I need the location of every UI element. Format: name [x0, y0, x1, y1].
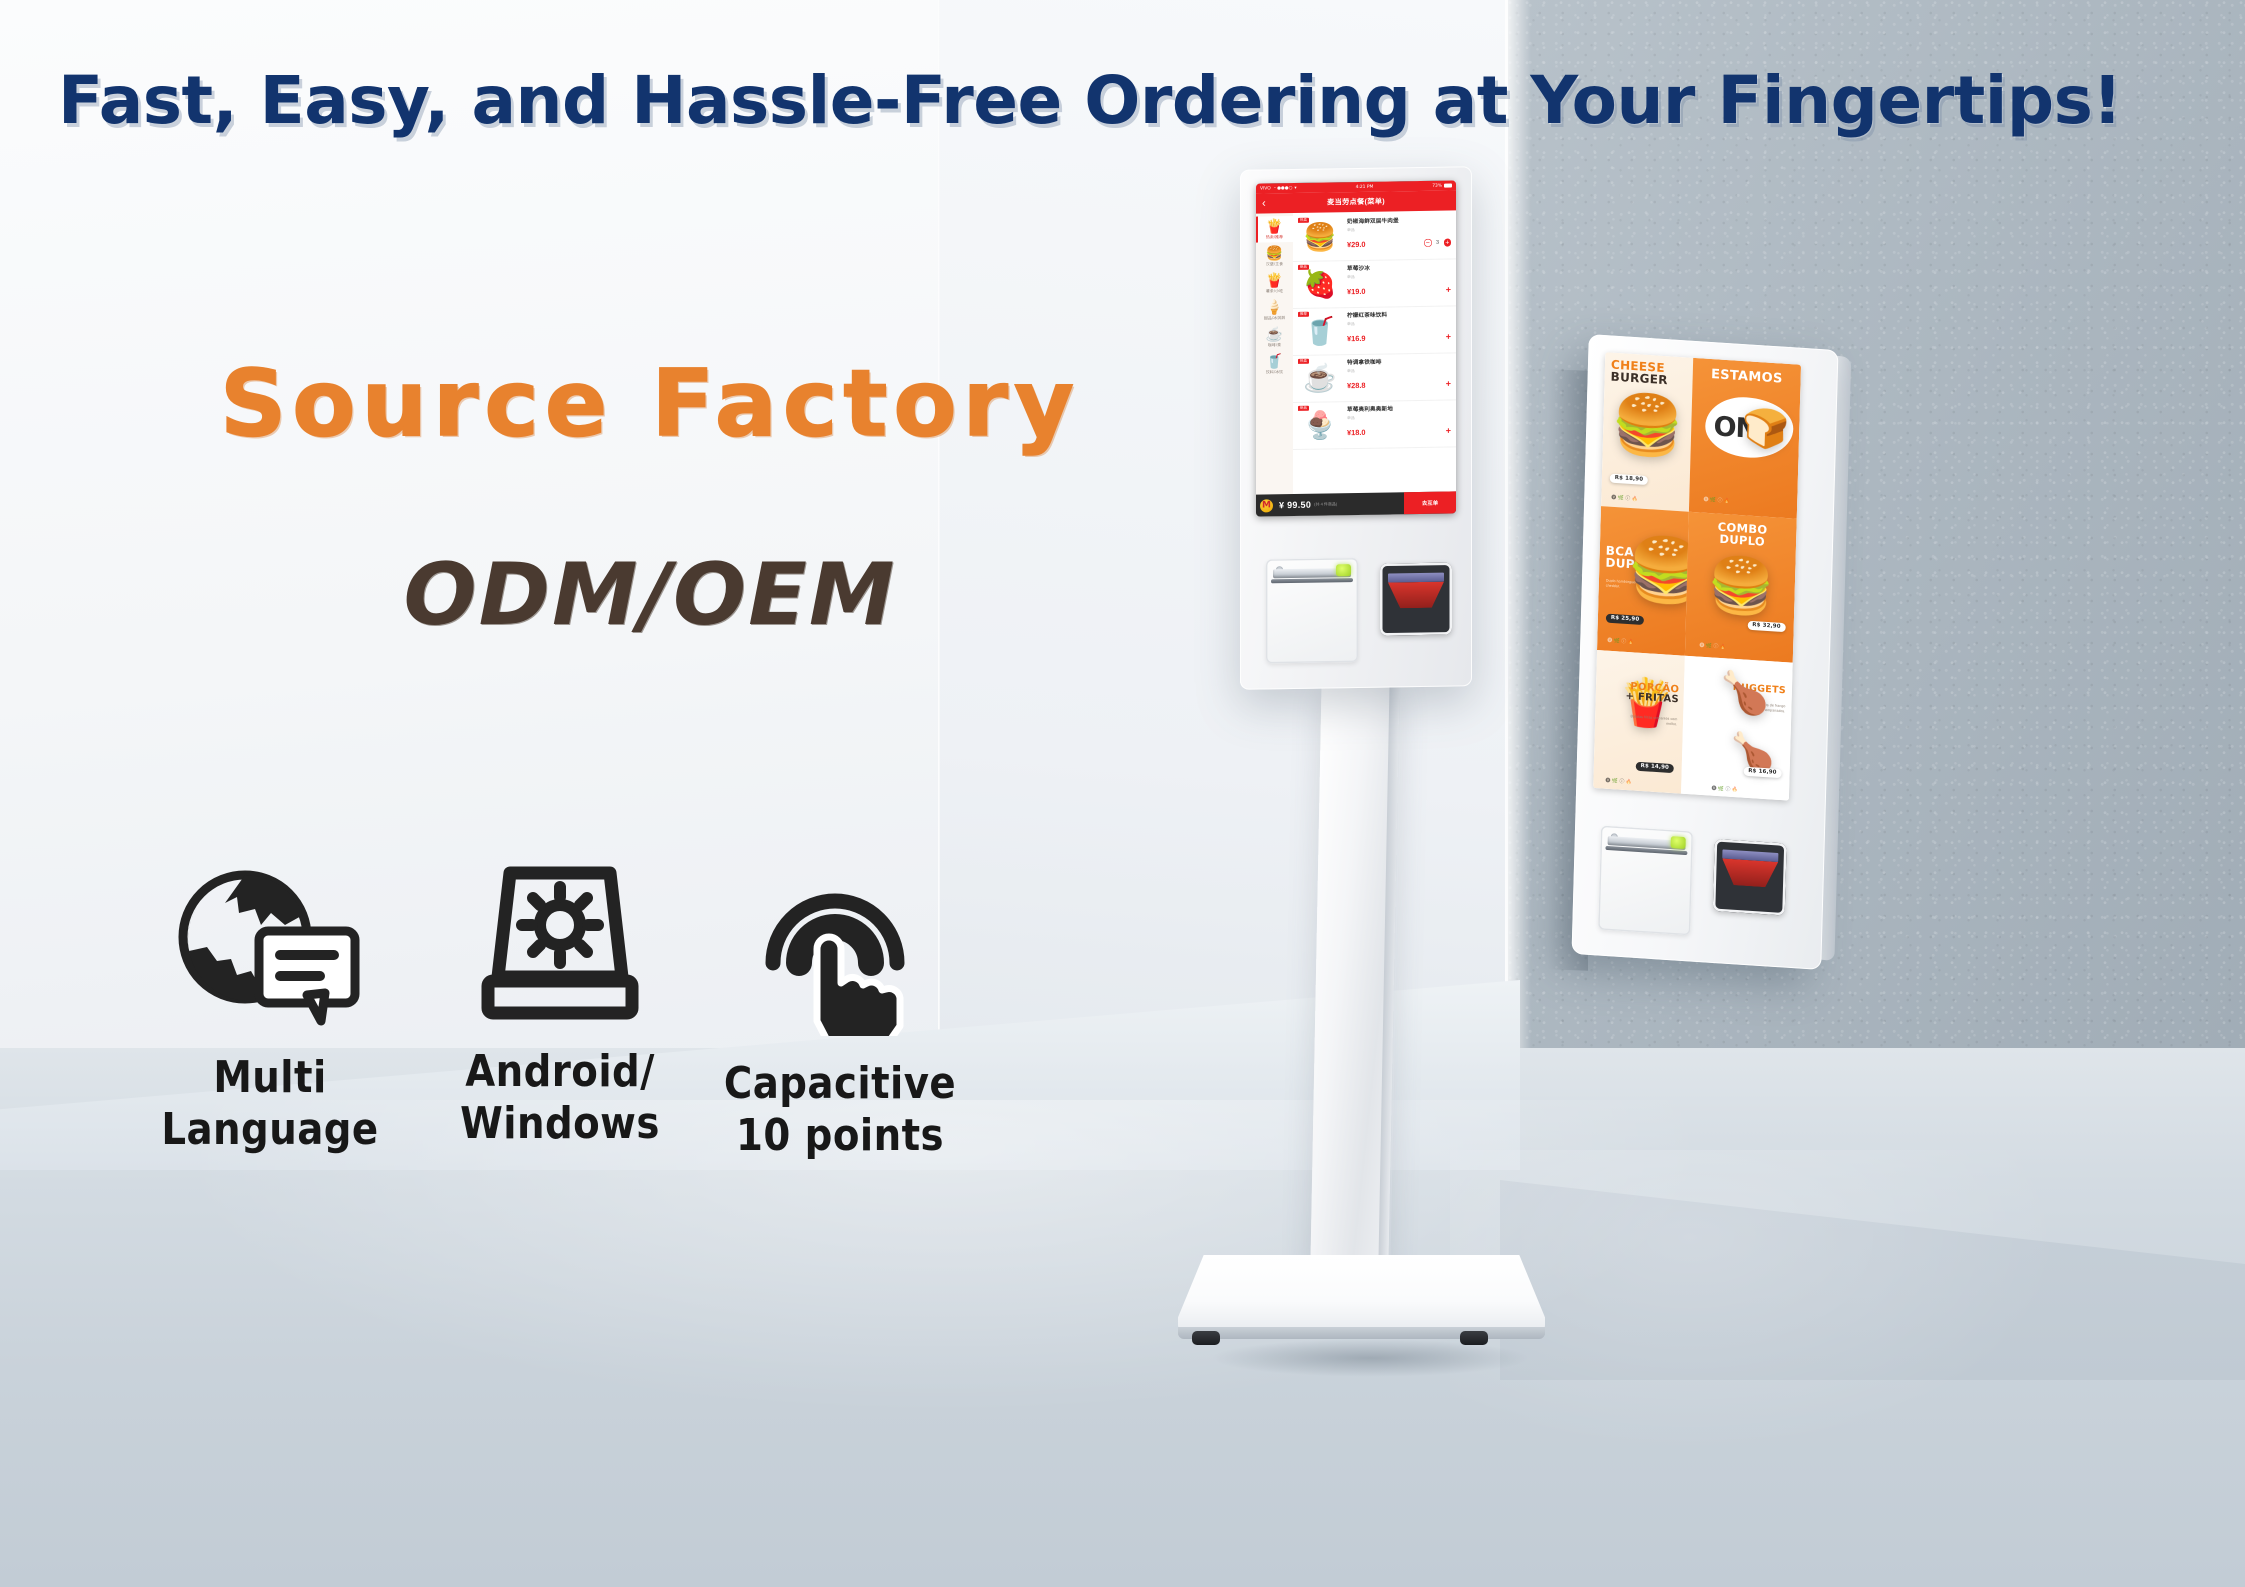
category-sidebar: 🍟 热卖/推荐 🍔 汉堡/主食 🍟 薯条/小吃 [1256, 213, 1293, 495]
coffee-icon: ☕ [1256, 327, 1293, 342]
menu-badges: 🅥 🌿 ⓘ 🔥 [1607, 637, 1634, 646]
item-price: ¥28.8 [1347, 380, 1366, 389]
item-food-image: 🍨 [1303, 412, 1337, 440]
order-total: ¥ 99.50 [1279, 500, 1311, 511]
feature-multi-language: Multi Language [110, 855, 430, 1156]
checkout-button[interactable]: 去互单 [1404, 491, 1456, 514]
item-info: 特调拿铁咖啡 单品 ¥28.8 + [1343, 357, 1451, 399]
menu-badges: 🅥 🌿 ⓘ 🔥 [1699, 641, 1726, 650]
carrier-label: VIVO [1260, 186, 1271, 191]
item-name: 特调拿铁咖啡 [1347, 357, 1451, 367]
item-footer: ¥16.9 + [1347, 332, 1451, 343]
menu-cell-cheese-burger[interactable]: CHEESE BURGER 🍔 R$ 18,90 🅥 🌿 ⓘ 🔥 [1601, 352, 1693, 512]
feature-label-line1: Android/ [419, 1046, 701, 1098]
kiosk-base-edge [1178, 1327, 1545, 1339]
status-time: 4:21 PM [1356, 184, 1374, 189]
feature-label: Multi Language [129, 1052, 411, 1156]
battery-percent: 73% [1432, 183, 1442, 188]
feature-label-line2: 10 points [699, 1110, 981, 1162]
menu-row: 🍟 PORÇÃO + FRITAS Batatas fritas crocant… [1593, 650, 1793, 801]
signal-icon: ・●●●○ [1273, 185, 1293, 191]
item-price: ¥18.0 [1347, 427, 1366, 436]
item-subtitle: 单品 [1347, 413, 1451, 421]
item-footer: ¥18.0 + [1347, 426, 1451, 437]
add-item-button[interactable]: + [1446, 285, 1451, 294]
kiosk-touch-display[interactable]: VIVO ・●●●○ ▾ 4:21 PM 73% ‹ 麦当劳点餐(菜单) [1256, 180, 1456, 516]
menu-cell-title: CHEESE BURGER [1610, 359, 1687, 389]
menu-list-item[interactable]: 新品 🍨 草莓奥利奥奥新地 单品 ¥18.0 + [1293, 400, 1456, 450]
menu-row: BCA DUPLO Duplo hambúrguer com queijo ch… [1597, 506, 1797, 663]
green-status-led [1336, 564, 1351, 576]
burger-icon: 🍔 [1256, 246, 1293, 261]
add-item-button[interactable]: + [1446, 379, 1451, 388]
menu-price: R$ 14,90 [1636, 761, 1675, 773]
item-thumbnail: 热卖 ☕ [1297, 358, 1343, 399]
menu-cell-nuggets[interactable]: NUGGETS Nuggets de frango empanados. 🍗 🍗… [1681, 656, 1792, 801]
receipt-printer[interactable] [1266, 558, 1358, 663]
screen-brightness-icon [400, 849, 720, 1024]
sidebar-item-desserts[interactable]: 🍦 甜品/冰淇淋 [1256, 297, 1293, 324]
qr-code-scanner[interactable] [1380, 562, 1452, 635]
tagline-primary: Source Factory [150, 350, 1150, 457]
item-tag-badge: 新品 [1298, 265, 1309, 270]
kiosk-foot-right [1460, 1331, 1488, 1345]
floor-standing-kiosk[interactable]: VIVO ・●●●○ ▾ 4:21 PM 73% ‹ 麦当劳点餐(菜单) [1240, 168, 1472, 688]
feature-label-line1: Multi [129, 1052, 411, 1104]
page-title: 麦当劳点餐(菜单) [1256, 195, 1456, 208]
feature-label-line1: Capacitive [699, 1058, 981, 1110]
globe-chat-icon [110, 855, 430, 1030]
menu-title-estamos: ESTAMOS [1693, 367, 1801, 387]
item-subtitle: 单品 [1347, 366, 1451, 374]
menu-item-list[interactable]: 热卖 🍔 奶椒海鲜双层牛肉堡 单品 ¥29.0 − [1293, 210, 1456, 494]
menu-badges: 🅥 🌿 ⓘ 🔥 [1703, 496, 1730, 505]
promo-star-icon: 🍟 [1256, 219, 1293, 234]
menu-cell-bca-duplo[interactable]: BCA DUPLO Duplo hambúrguer com queijo ch… [1597, 506, 1689, 656]
sidebar-item-coffee[interactable]: ☕ 咖啡/茶 [1256, 324, 1293, 351]
feature-touch: Capacitive 10 points [680, 861, 1000, 1162]
item-food-image: 🍓 [1303, 271, 1337, 299]
wifi-icon: ▾ [1294, 185, 1296, 190]
order-summary-bar: M ¥ 99.50 (共 4 件商品) 去互单 [1256, 491, 1456, 516]
feature-list: Multi Language [110, 855, 1260, 1255]
product-banner: Fast, Easy, and Hassle-Free Ordering at … [0, 0, 2245, 1587]
item-subtitle: 单品 [1347, 225, 1451, 233]
item-food-image: ☕ [1303, 365, 1337, 393]
sidebar-item-fries[interactable]: 🍟 薯条/小吃 [1256, 270, 1293, 297]
menu-price: R$ 25,90 [1606, 613, 1645, 625]
sidebar-item-hot[interactable]: 🍟 热卖/推荐 [1256, 216, 1293, 243]
digital-menu-board: CHEESE BURGER 🍔 R$ 18,90 🅥 🌿 ⓘ 🔥 ESTAMOS… [1593, 352, 1801, 800]
item-thumbnail: 新品 🍨 [1297, 405, 1343, 446]
food-image-bun: 🍞 [1741, 409, 1789, 450]
food-image-combo: 🍔 [1707, 557, 1776, 615]
green-status-led [1671, 836, 1686, 849]
menu-title-line2: DUPLO [1719, 532, 1765, 549]
item-name: 奶椒海鲜双层牛肉堡 [1347, 216, 1451, 226]
kiosk-foot-left [1192, 1331, 1220, 1345]
kiosk-head-unit: VIVO ・●●●○ ▾ 4:21 PM 73% ‹ 麦当劳点餐(菜单) [1240, 166, 1472, 690]
menu-list-item[interactable]: 推荐 🥤 柠檬红茶味饮料 单品 ¥16.9 + [1293, 306, 1456, 356]
menu-price: R$ 18,90 [1610, 473, 1649, 485]
ordering-app: VIVO ・●●●○ ▾ 4:21 PM 73% ‹ 麦当劳点餐(菜单) [1256, 180, 1456, 516]
scanner-window-band [1388, 573, 1444, 583]
item-info: 草莓奥利奥奥新地 单品 ¥18.0 + [1343, 404, 1451, 446]
item-thumbnail: 推荐 🥤 [1297, 311, 1343, 352]
battery-icon [1444, 183, 1452, 187]
quantity-value: 3 [1435, 240, 1440, 246]
sidebar-item-label: 汉堡/主食 [1256, 261, 1293, 268]
item-price: ¥16.9 [1347, 333, 1366, 342]
item-tag-badge: 热卖 [1298, 218, 1309, 223]
qr-code-scanner[interactable] [1713, 839, 1787, 916]
item-thumbnail: 新品 🍓 [1297, 264, 1343, 305]
item-thumbnail: 热卖 🍔 [1297, 217, 1343, 258]
item-subtitle: 单品 [1347, 272, 1451, 280]
increment-button[interactable]: + [1444, 239, 1452, 247]
red-scan-beam [1722, 858, 1779, 888]
ice-cream-icon: 🍦 [1256, 300, 1293, 315]
menu-badges: 🅥 🌿 ⓘ 🔥 [1611, 494, 1638, 503]
order-item-count: (共 4 件商品) [1314, 501, 1337, 507]
touch-gesture-icon [680, 861, 1000, 1036]
item-food-image: 🥤 [1303, 318, 1337, 346]
red-scan-beam [1388, 582, 1444, 609]
wall-mounted-kiosk[interactable]: CHEESE BURGER 🍔 R$ 18,90 🅥 🌿 ⓘ 🔥 ESTAMOS… [1572, 334, 1839, 970]
menu-badges: 🅥 🌿 ⓘ 🔥 [1711, 785, 1738, 794]
menu-list-item[interactable]: 新品 🍓 草莓沙冰 单品 ¥19.0 + [1293, 259, 1456, 309]
fries-icon: 🍟 [1256, 273, 1293, 288]
sidebar-item-label: 热卖/推荐 [1256, 234, 1293, 241]
item-subtitle: 单品 [1347, 319, 1451, 327]
kiosk-base-plate [1178, 1255, 1545, 1335]
sidebar-item-label: 饮料/冰饮 [1256, 369, 1293, 376]
item-info: 柠檬红茶味饮料 单品 ¥16.9 + [1343, 310, 1451, 352]
item-info: 奶椒海鲜双层牛肉堡 单品 ¥29.0 − 3 + [1343, 216, 1451, 258]
status-left: VIVO ・●●●○ ▾ [1260, 185, 1297, 192]
sidebar-item-label: 甜品/冰淇淋 [1256, 315, 1293, 322]
golden-arches-logo: M [1260, 499, 1273, 512]
feature-label-line2: Windows [419, 1098, 701, 1150]
item-footer: ¥29.0 − 3 + [1347, 238, 1451, 249]
headline: Fast, Easy, and Hassle-Free Ordering at … [0, 62, 2180, 139]
feature-label: Capacitive 10 points [699, 1058, 981, 1162]
sidebar-item-drinks[interactable]: 🥤 饮料/冰饮 [1256, 351, 1293, 378]
item-name: 草莓沙冰 [1347, 263, 1451, 273]
item-food-image: 🍔 [1303, 224, 1337, 252]
add-item-button[interactable]: + [1446, 332, 1451, 341]
menu-title-line2: BURGER [1610, 370, 1668, 388]
item-name: 草莓奥利奥奥新地 [1347, 404, 1451, 414]
wall-kiosk-hardware-panel [1572, 796, 1826, 970]
feature-label-line2: Language [129, 1104, 411, 1156]
receipt-printer[interactable] [1598, 826, 1693, 936]
menu-badges: 🅥 🌿 ⓘ 🔥 [1605, 777, 1632, 786]
kiosk-hardware-panel [1240, 528, 1472, 690]
menu-list-item[interactable]: 热卖 ☕ 特调拿铁咖啡 单品 ¥28.8 + [1293, 353, 1456, 403]
item-tag-badge: 推荐 [1298, 312, 1309, 317]
sidebar-item-label: 咖啡/茶 [1256, 342, 1293, 349]
feature-label: Android/ Windows [419, 1046, 701, 1150]
menu-cell-combo-duplo[interactable]: COMBO DUPLO 🍔 R$ 32,90 🅥 🌿 ⓘ 🔥 [1685, 512, 1797, 663]
item-footer: ¥28.8 + [1347, 379, 1451, 390]
printer-cutter-bar [1271, 578, 1353, 583]
item-tag-badge: 热卖 [1298, 359, 1309, 364]
sidebar-item-burgers[interactable]: 🍔 汉堡/主食 [1256, 243, 1293, 270]
tagline-secondary: ODM/OEM [150, 545, 1150, 645]
menu-list-item[interactable]: 热卖 🍔 奶椒海鲜双层牛肉堡 单品 ¥29.0 − [1293, 212, 1456, 262]
menu-cell-title: COMBO DUPLO [1688, 520, 1796, 551]
food-image-burger: 🍔 [1611, 395, 1685, 458]
item-price: ¥29.0 [1347, 239, 1366, 248]
menu-cell-estamos-on[interactable]: ESTAMOS ON 🍞 🅥 🌿 ⓘ 🔥 [1689, 358, 1801, 519]
menu-cell-porcao-fritas[interactable]: 🍟 PORÇÃO + FRITAS Batatas fritas crocant… [1593, 650, 1685, 794]
food-image-double-burger: 🍔 [1626, 538, 1689, 605]
status-right: 73% [1432, 183, 1452, 188]
menu-row: CHEESE BURGER 🍔 R$ 18,90 🅥 🌿 ⓘ 🔥 ESTAMOS… [1601, 352, 1801, 519]
item-footer: ¥19.0 + [1347, 285, 1451, 296]
menu-price: R$ 16,90 [1743, 766, 1782, 778]
menu-price: R$ 32,90 [1747, 620, 1786, 632]
item-tag-badge: 新品 [1298, 406, 1309, 411]
drink-icon: 🥤 [1256, 354, 1293, 369]
menu-cell-title: PORÇÃO + FRITAS [1625, 682, 1679, 706]
item-price: ¥19.0 [1347, 286, 1366, 295]
quantity-stepper[interactable]: − 3 + [1424, 239, 1451, 247]
wall-kiosk-display[interactable]: CHEESE BURGER 🍔 R$ 18,90 🅥 🌿 ⓘ 🔥 ESTAMOS… [1593, 352, 1801, 800]
app-body: 🍟 热卖/推荐 🍔 汉堡/主食 🍟 薯条/小吃 [1256, 210, 1456, 494]
add-item-button[interactable]: + [1446, 426, 1451, 435]
app-nav-bar: ‹ 麦当劳点餐(菜单) [1256, 190, 1456, 213]
feature-os-support: Android/ Windows [400, 849, 720, 1150]
item-info: 草莓沙冰 单品 ¥19.0 + [1343, 263, 1451, 305]
food-image-nuggets: 🍗 [1720, 672, 1771, 715]
food-image-nuggets-plate: 🍗 [1730, 733, 1776, 772]
sidebar-item-label: 薯条/小吃 [1256, 288, 1293, 295]
item-name: 柠檬红茶味饮料 [1347, 310, 1451, 320]
decrement-button[interactable]: − [1424, 239, 1432, 247]
